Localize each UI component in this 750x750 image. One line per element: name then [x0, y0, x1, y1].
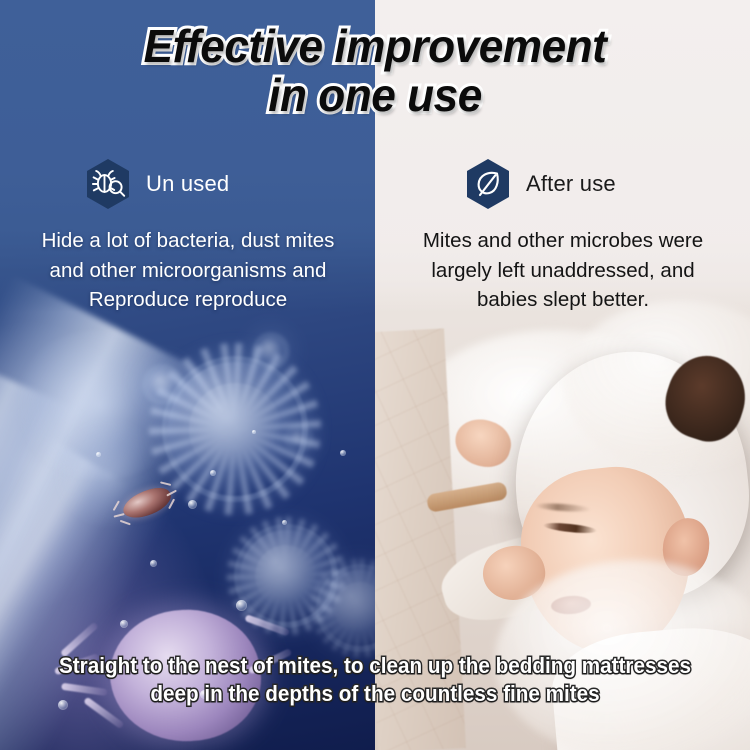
body-copy-left: Hide a lot of bacteria, dust mites and o… [8, 226, 368, 315]
label-row-unused: Un used [84, 158, 229, 210]
bubble [210, 470, 216, 476]
bubble [282, 520, 287, 525]
label-row-after-use: After use [464, 158, 616, 210]
poster-title: Effective improvement in one use [15, 22, 735, 120]
virus-particle [168, 362, 302, 496]
caption-line-2: deep in the depths of the countless fine… [23, 680, 728, 708]
body-right-line-2: largely left unaddressed, and [383, 256, 743, 286]
body-right-line-3: babies slept better. [383, 285, 743, 315]
leaf-icon [464, 158, 512, 210]
bubble [188, 500, 197, 509]
title-line-1: Effective improvement [15, 22, 735, 71]
dust-mite-leg [160, 481, 171, 486]
virus-particle [148, 370, 178, 400]
caption-line-1: Straight to the nest of mites, to clean … [23, 652, 728, 680]
bubble [236, 600, 247, 611]
bubble [150, 560, 157, 567]
body-left-line-3: Reproduce reproduce [8, 285, 368, 315]
virus-particle [290, 430, 308, 448]
bubble [120, 620, 128, 628]
bubble [252, 430, 256, 434]
body-right-line-1: Mites and other microbes were [383, 226, 743, 256]
virus-particle [322, 570, 375, 646]
virus-particle [258, 338, 284, 364]
bug-magnifier-icon [84, 158, 132, 210]
label-after-use: After use [526, 171, 616, 197]
label-unused: Un used [146, 171, 229, 197]
bottom-caption: Straight to the nest of mites, to clean … [23, 652, 728, 708]
promo-poster: Effective improvement in one use [0, 0, 750, 750]
bubble [340, 450, 346, 456]
body-left-line-2: and other microorganisms and [8, 256, 368, 286]
bubble [96, 452, 101, 457]
body-copy-right: Mites and other microbes were largely le… [383, 226, 743, 315]
title-line-2: in one use [15, 71, 735, 120]
body-left-line-1: Hide a lot of bacteria, dust mites [8, 226, 368, 256]
